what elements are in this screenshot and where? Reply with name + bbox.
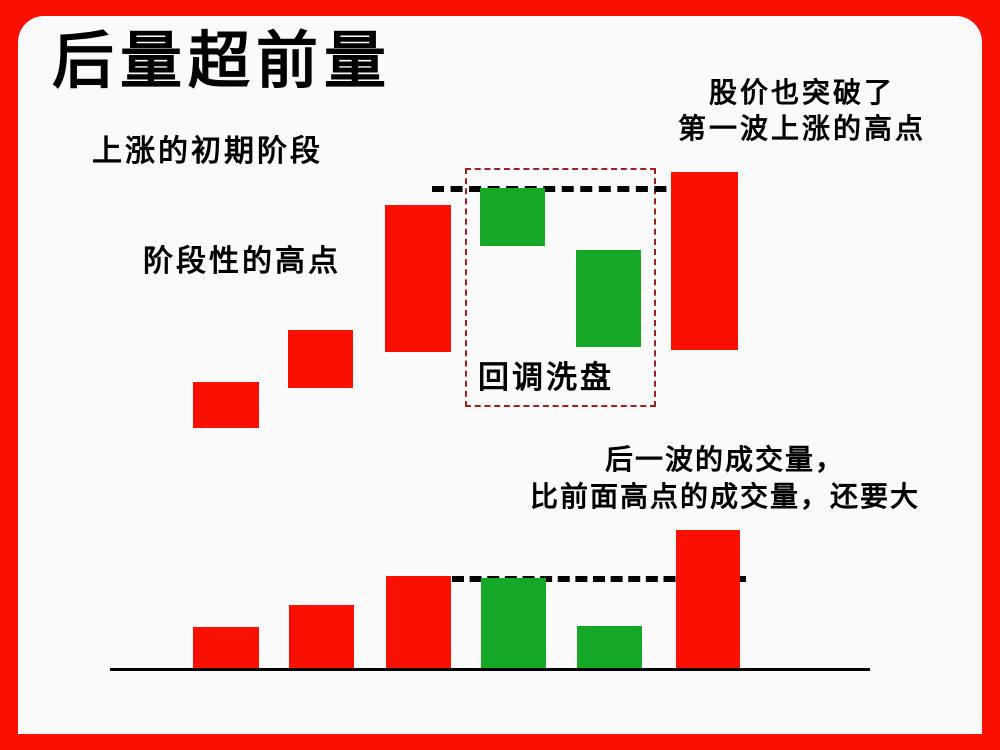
volume-bar-1	[193, 627, 259, 668]
candle-body-2	[288, 330, 353, 388]
candle-body-3	[385, 205, 451, 352]
volume-bar-5	[577, 626, 642, 668]
page-title: 后量超前量	[52, 30, 392, 95]
candle-body-1	[193, 382, 259, 428]
annotation-breakout-line-2: 第一波上涨的高点	[622, 112, 982, 148]
annotation-volume-compare: 后一波的成交量， 比前面高点的成交量，还要大	[470, 443, 980, 517]
candle-body-6	[671, 172, 738, 350]
volume-baseline	[110, 668, 870, 671]
annotation-volume-line-1: 后一波的成交量，	[470, 443, 980, 480]
volume-bar-3	[386, 576, 451, 668]
volume-bar-6	[676, 530, 740, 668]
page-subtitle: 上涨的初期阶段	[92, 126, 323, 170]
annotation-volume-line-2: 比前面高点的成交量，还要大	[470, 480, 980, 517]
volume-bar-4	[481, 578, 546, 668]
candle-body-4	[480, 188, 545, 246]
annotation-breakout-line-1: 股价也突破了	[622, 76, 982, 112]
annotation-breakout: 股价也突破了 第一波上涨的高点	[622, 76, 982, 149]
diagram-layer: 后量超前量 上涨的初期阶段 阶段性的高点 股价也突破了 第一波上涨的高点 回调洗…	[0, 0, 1000, 750]
slide-canvas: 后量超前量 上涨的初期阶段 阶段性的高点 股价也突破了 第一波上涨的高点 回调洗…	[0, 0, 1000, 750]
candle-body-5	[576, 250, 641, 347]
annotation-stage-high: 阶段性的高点	[143, 236, 341, 280]
volume-bar-2	[289, 605, 354, 668]
